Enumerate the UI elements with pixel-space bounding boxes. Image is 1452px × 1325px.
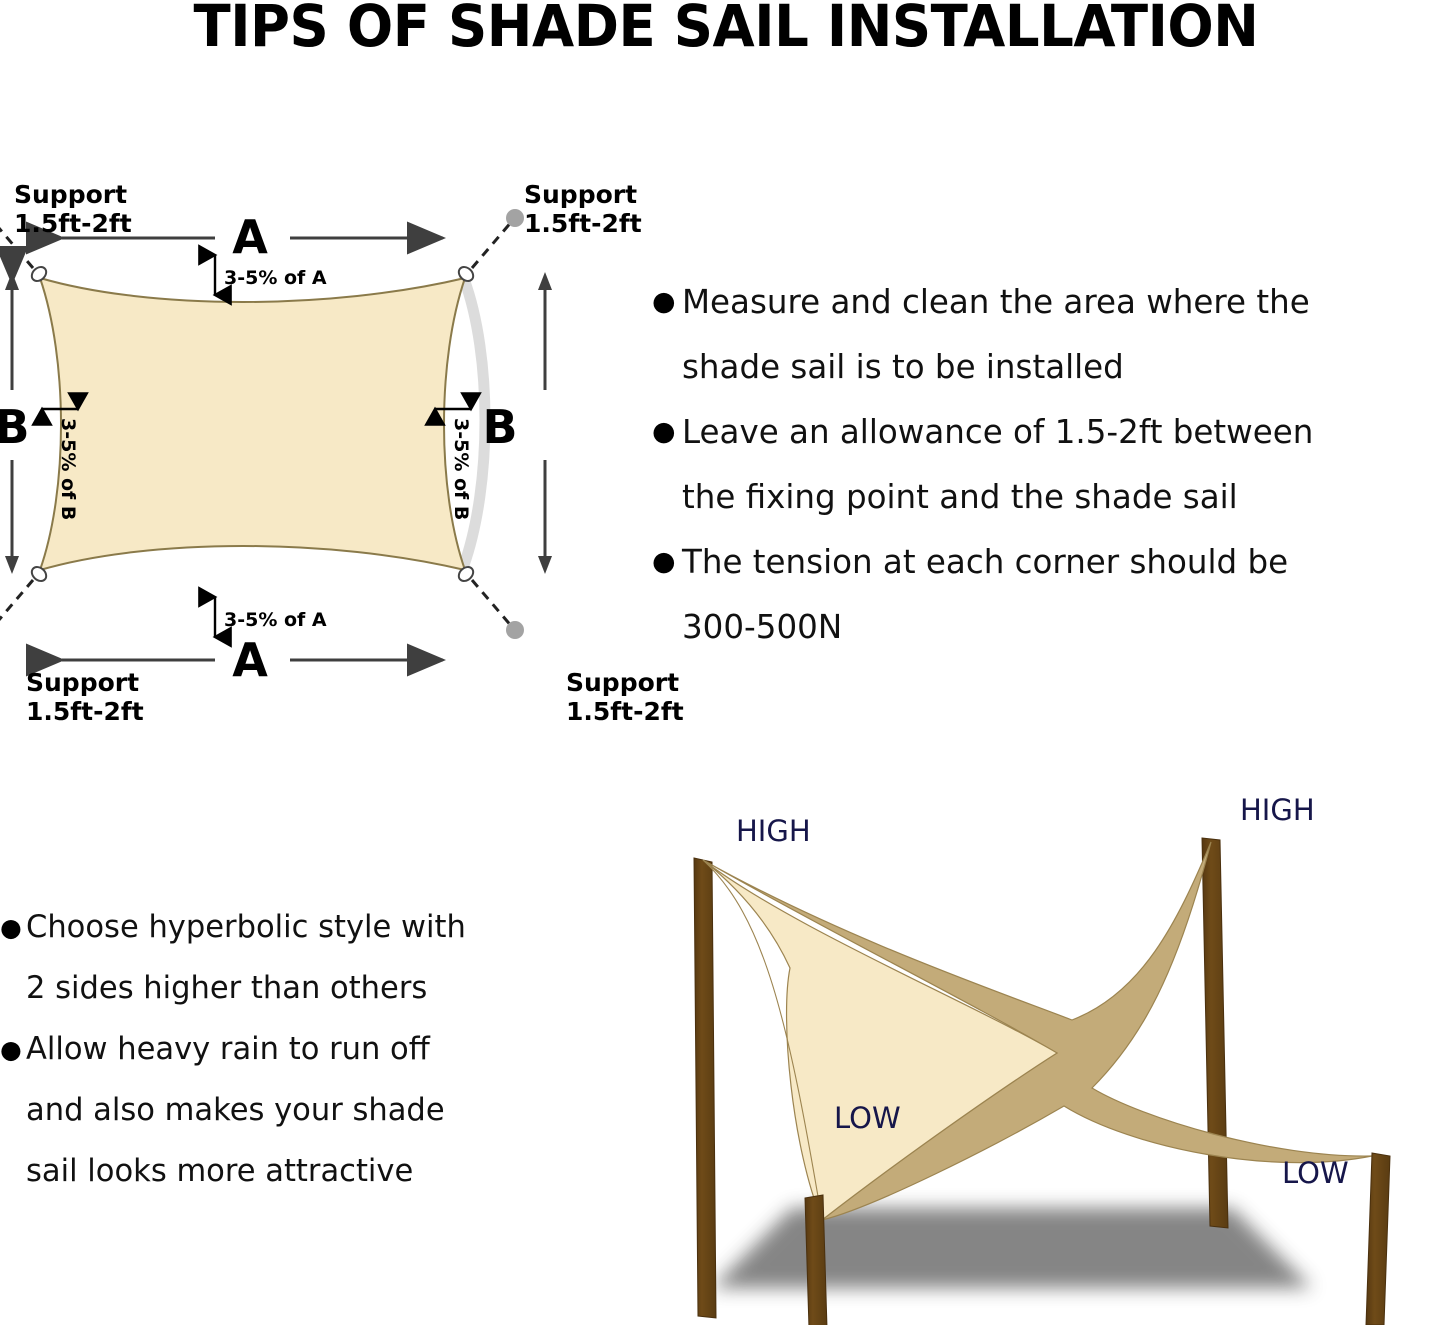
- support-label-line1: Support: [566, 668, 684, 697]
- tip-text: the fixing point and the shade sail: [682, 465, 1440, 528]
- dimension-b-right-label: B: [482, 400, 517, 454]
- support-dot-top-right: [506, 209, 524, 227]
- dimension-a-top-label: A: [232, 210, 268, 264]
- tip-item-continuation: the fixing point and the shade sail: [652, 465, 1452, 528]
- tip-text: Choose hyperbolic style with: [26, 898, 611, 957]
- support-label-line1: Support: [14, 180, 132, 209]
- bullet-icon: ●: [652, 400, 682, 463]
- dimension-b-right: B: [482, 272, 552, 574]
- tip-text: The tension at each corner should be: [682, 530, 1440, 593]
- tip-item: ●Allow heavy rain to run off: [0, 1020, 620, 1079]
- tip-text: and also makes your shade: [26, 1081, 611, 1140]
- rectangular-sail-diagram: A 3-5% of A A 3-5% of A B 3-5% of B B: [0, 160, 660, 740]
- label-high-left: HIGH: [736, 814, 811, 848]
- tip-text: shade sail is to be installed: [682, 335, 1440, 398]
- support-label-line2: 1.5ft-2ft: [26, 697, 144, 726]
- bullet-icon: ●: [0, 898, 26, 957]
- tip-item: ●Leave an allowance of 1.5-2ft between: [652, 400, 1452, 463]
- support-label-top-right: Support 1.5ft-2ft: [524, 180, 642, 238]
- support-label-top-left: Support 1.5ft-2ft: [14, 180, 132, 238]
- support-lead-bottom-right: [472, 580, 524, 639]
- dimension-b-left: B: [0, 272, 30, 574]
- tip-text: Allow heavy rain to run off: [26, 1020, 611, 1079]
- support-lead-bottom-left: [0, 580, 33, 639]
- bullet-icon: ●: [652, 530, 682, 593]
- page-title: TIPS OF SHADE SAIL INSTALLATION: [44, 0, 1409, 57]
- label-low-right: LOW: [1282, 1156, 1349, 1190]
- curve-note-b-left-label: 3-5% of B: [57, 418, 79, 520]
- bullet-icon: ●: [0, 1020, 26, 1079]
- post-low-right: [1366, 1153, 1390, 1325]
- hyperbolic-sail-illustration: HIGH HIGH LOW LOW: [672, 788, 1452, 1325]
- tip-item-continuation: and also makes your shade: [0, 1081, 620, 1140]
- dimension-b-left-label: B: [0, 400, 30, 454]
- tip-text: Leave an allowance of 1.5-2ft between: [682, 400, 1440, 463]
- tip-item-continuation: 300-500N: [652, 595, 1452, 658]
- label-low-left: LOW: [834, 1101, 901, 1135]
- curve-note-a-top-label: 3-5% of A: [224, 267, 327, 289]
- support-label-bottom-left: Support 1.5ft-2ft: [26, 668, 144, 726]
- support-lead-top-right: [472, 209, 524, 268]
- support-label-line2: 1.5ft-2ft: [14, 209, 132, 238]
- tip-item: ●Choose hyperbolic style with: [0, 898, 620, 957]
- shade-sail-shape: [40, 278, 465, 570]
- curve-note-b-left: 3-5% of B: [42, 409, 79, 520]
- tips-list-top: ●Measure and clean the area where thesha…: [652, 270, 1452, 660]
- support-label-line1: Support: [26, 668, 144, 697]
- support-dot-bottom-right: [506, 621, 524, 639]
- curve-note-a-bottom-label: 3-5% of A: [224, 609, 327, 631]
- support-label-bottom-right: Support 1.5ft-2ft: [566, 668, 684, 726]
- tip-text: Measure and clean the area where the: [682, 270, 1440, 333]
- tip-text: 300-500N: [682, 595, 1440, 658]
- tip-text: sail looks more attractive: [26, 1142, 611, 1201]
- sail-surface-light: [703, 860, 1057, 1220]
- post-high-left: [694, 858, 716, 1318]
- post-high-right: [1202, 838, 1228, 1228]
- tip-item-continuation: shade sail is to be installed: [652, 335, 1452, 398]
- curve-note-b-right-label: 3-5% of B: [450, 418, 472, 520]
- post-low-left: [805, 1195, 827, 1325]
- tips-list-bottom: ●Choose hyperbolic style with2 sides hig…: [0, 898, 620, 1203]
- tip-item-continuation: 2 sides higher than others: [0, 959, 620, 1018]
- dimension-a-bottom-label: A: [232, 633, 268, 687]
- support-label-line2: 1.5ft-2ft: [524, 209, 642, 238]
- tip-item: ●Measure and clean the area where the: [652, 270, 1452, 333]
- tip-item-continuation: sail looks more attractive: [0, 1142, 620, 1201]
- label-high-right: HIGH: [1240, 793, 1315, 827]
- bullet-icon: ●: [652, 270, 682, 333]
- tip-item: ●The tension at each corner should be: [652, 530, 1452, 593]
- support-label-line1: Support: [524, 180, 642, 209]
- tip-text: 2 sides higher than others: [26, 959, 611, 1018]
- support-label-line2: 1.5ft-2ft: [566, 697, 684, 726]
